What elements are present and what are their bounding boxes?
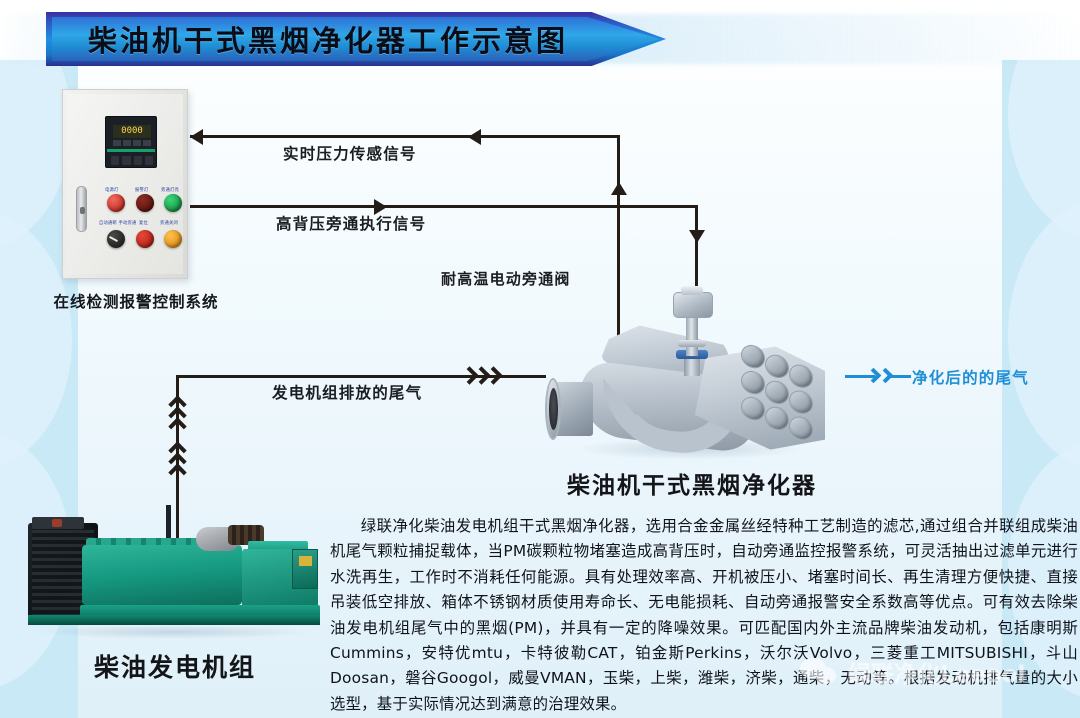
bypass-valve-actuator: [673, 292, 713, 318]
bypass-valve-actuator-cap: [681, 286, 703, 295]
generator-caption: 柴油发电机组: [30, 648, 320, 684]
pressure-signal-line: [190, 135, 620, 138]
bypass-signal-arrow-down: [689, 230, 705, 243]
lamp-reset[interactable]: [136, 230, 154, 248]
exhaust-chevron-right-3: [484, 366, 502, 384]
generator-radiator-cap: [32, 517, 84, 529]
meter-buttons[interactable]: [111, 156, 153, 165]
pressure-signal-arrow: [190, 129, 203, 145]
pressure-signal-label: 实时压力传感信号: [283, 142, 417, 164]
lamp-label-bypass-on: 旁通灯亮: [161, 187, 179, 193]
lamp-power: [107, 194, 125, 212]
meter-green-stripe: [107, 149, 155, 152]
exhaust-chevron-up-6: [168, 463, 186, 481]
digital-meter: 0000: [105, 116, 157, 168]
generator-shadow: [34, 625, 314, 639]
purifier-inlet-opening: [549, 388, 558, 430]
control-cabinet: 0000 电源灯 报警灯 旁通灯亮 自动通断 手动旁通 复位 旁通关闭: [62, 89, 188, 279]
black-smoke-purifier-device: [545, 300, 845, 470]
diesel-generator-set: [20, 505, 335, 640]
exhaust-chevron-up-3: [168, 417, 186, 435]
cabinet-door-handle[interactable]: [76, 186, 87, 232]
generator-engine-block: [82, 545, 242, 605]
generator-skid: [28, 615, 320, 625]
lamp-label-bypass-close: 旁通关闭: [160, 220, 178, 226]
description-text: 绿联净化柴油发电机组干式黑烟净化器，选用合金金属丝经特种工艺制造的滤芯,通过组合…: [330, 514, 1078, 717]
meter-value: 0000: [121, 127, 143, 136]
generator-control-box: [292, 549, 318, 589]
bypass-signal-line: [190, 205, 698, 208]
diagram-canvas: 柴油机干式黑烟净化器工作示意图 0000 电源灯 报警灯 旁通灯亮 自动通断 手…: [0, 0, 1080, 718]
page-title: 柴油机干式黑烟净化器工作示意图: [46, 18, 568, 60]
lamp-alarm: [136, 194, 154, 212]
knob-label: 自动通断 手动旁通: [99, 220, 137, 226]
pressure-signal-arrow-mid: [468, 129, 481, 145]
meter-subdisplay: [113, 140, 151, 146]
lamp-label-power: 电源灯: [105, 187, 119, 193]
banner-chevron: 柴油机干式黑烟净化器工作示意图: [46, 12, 666, 66]
lamp-bypass-close[interactable]: [164, 230, 182, 248]
purifier-caption: 柴油机干式黑烟净化器: [512, 466, 872, 500]
purifier-valve-neck: [684, 356, 700, 376]
description-paragraph: 绿联净化柴油发电机组干式黑烟净化器，选用合金金属丝经特种工艺制造的滤芯,通过组合…: [330, 514, 1078, 717]
lamp-bypass-on: [164, 194, 182, 212]
pressure-signal-arrow-up: [611, 182, 627, 195]
bypass-signal-label: 高背压旁通执行信号: [276, 212, 426, 234]
purifier-valve-stem: [686, 314, 698, 356]
mode-selector-knob[interactable]: [107, 230, 125, 248]
purifier-valve-flange-upper: [678, 340, 706, 347]
lamp-label-alarm: 报警灯: [135, 187, 149, 193]
title-banner: 柴油机干式黑烟净化器工作示意图: [0, 8, 1080, 70]
clean-exhaust-label: 净化后的的尾气: [912, 366, 1029, 388]
clean-exhaust-line-right: [891, 375, 911, 378]
meter-display: 0000: [113, 125, 151, 138]
raw-exhaust-label: 发电机组排放的尾气: [272, 381, 422, 403]
valve-label: 耐高温电动旁通阀: [441, 268, 571, 289]
lamp-label-reset: 复位: [139, 220, 148, 226]
cabinet-caption: 在线检测报警控制系统: [26, 290, 246, 312]
purifier-filter-canisters: [741, 339, 827, 457]
